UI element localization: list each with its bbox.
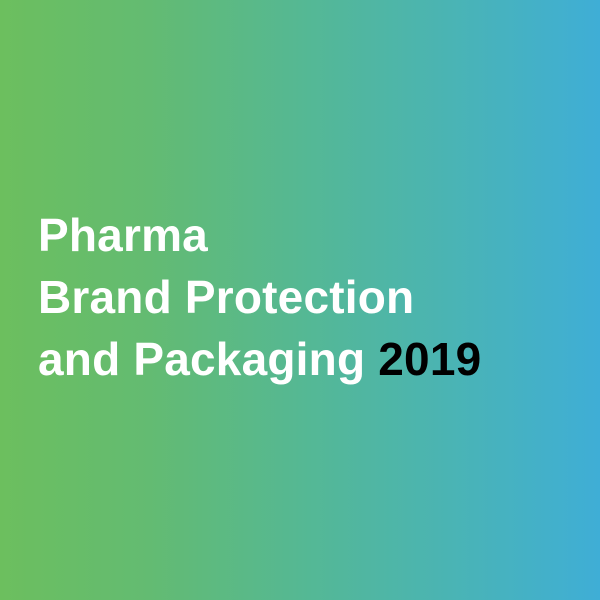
title-line-2: Brand Protection: [38, 266, 578, 328]
title-line-3: and Packaging 2019: [38, 328, 578, 390]
title-year: 2019: [378, 333, 481, 385]
title-line-3-text: and Packaging: [38, 333, 365, 385]
title-block: Pharma Brand Protection and Packaging 20…: [38, 204, 578, 390]
gradient-banner: Pharma Brand Protection and Packaging 20…: [0, 0, 600, 600]
title-spacer: [365, 333, 378, 385]
title-line-1: Pharma: [38, 204, 578, 266]
